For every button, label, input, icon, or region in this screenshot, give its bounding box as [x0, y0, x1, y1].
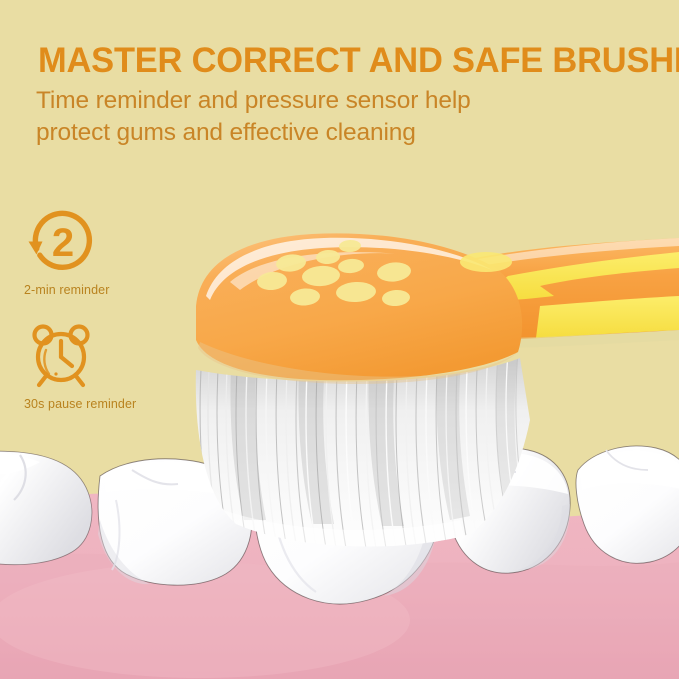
circular-arrow-2-icon: 2 [22, 202, 100, 280]
page-subtitle: Time reminder and pressure sensor help p… [36, 85, 636, 148]
feature-2min-reminder: 2 2-min reminder [6, 202, 156, 297]
infographic-poster: MASTER CORRECT AND SAFE BRUSHING Time re… [0, 0, 679, 679]
alarm-clock-icon [22, 316, 100, 394]
page-title: MASTER CORRECT AND SAFE BRUSHING [38, 42, 639, 80]
page-subtitle-line1: Time reminder and pressure sensor help [36, 85, 636, 117]
feature-label: 30s pause reminder [24, 397, 156, 411]
page-subtitle-line2: protect gums and effective cleaning [36, 117, 636, 149]
feature-label: 2-min reminder [24, 283, 156, 297]
feature-30s-pause-reminder: 30s pause reminder [6, 316, 156, 411]
icon-digit: 2 [52, 221, 74, 265]
